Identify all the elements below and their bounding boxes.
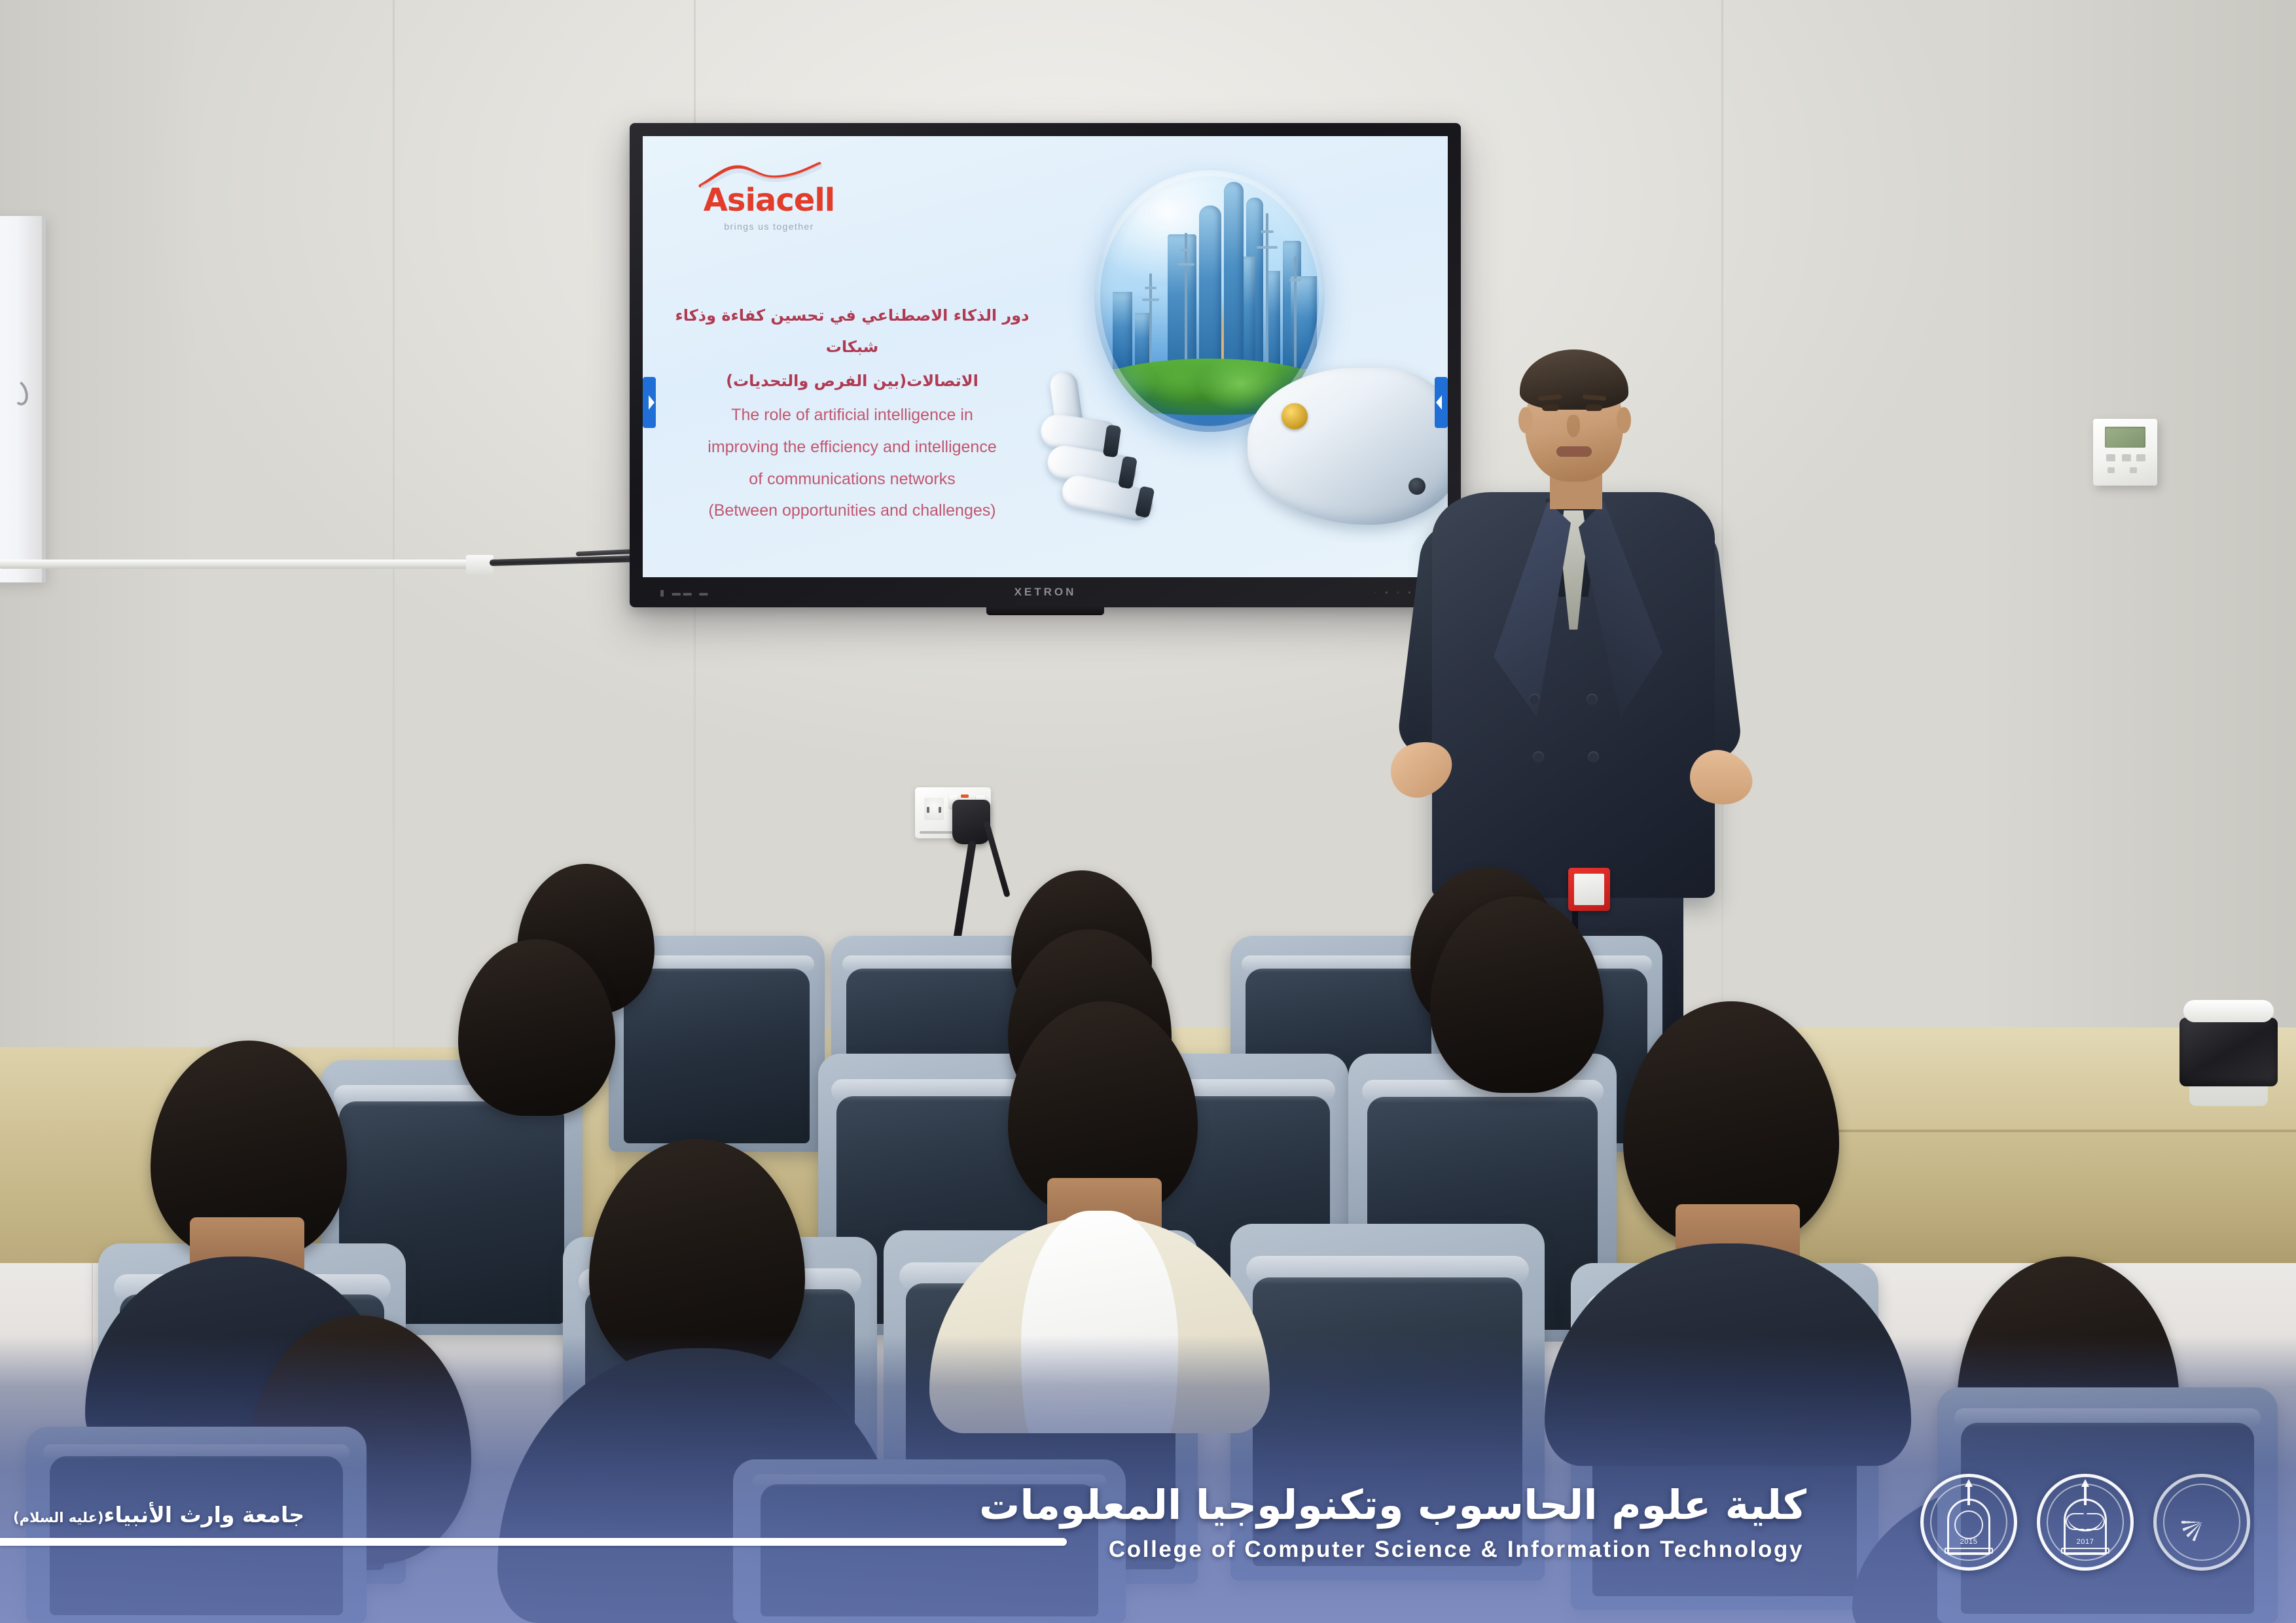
ministry-of-higher-education-logo[interactable]	[2153, 1474, 2250, 1571]
seal-year: 2017	[2077, 1538, 2094, 1546]
university-name-honorific: (عليه السلام)	[13, 1510, 104, 1525]
banner-logo-row: 2015 2017	[1920, 1474, 2250, 1571]
college-name-block: كلية علوم الحاسوب وتكنولوجيا المعلومات C…	[1106, 1481, 1806, 1563]
university-seal-logo[interactable]: 2017	[2037, 1474, 2134, 1571]
university-name-arabic: جامعة وارث الأنبياء(عليه السلام)	[13, 1502, 304, 1527]
ministry-rays-icon	[2181, 1502, 2222, 1543]
seal-open-book-icon	[2067, 1514, 2104, 1531]
seal-base-icon	[1945, 1548, 1993, 1554]
university-college-seal-logo[interactable]: 2015	[1920, 1474, 2017, 1571]
college-name-arabic: كلية علوم الحاسوب وتكنولوجيا المعلومات	[1106, 1481, 1806, 1529]
seal-base-icon	[2061, 1548, 2109, 1554]
banner-divider-rule	[0, 1538, 1067, 1546]
seal-year: 2015	[1960, 1538, 1978, 1546]
seal-crest-icon: 2017	[2057, 1488, 2113, 1556]
brand-banner: جامعة وارث الأنبياء(عليه السلام) كلية عل…	[0, 0, 2296, 1623]
seal-crest-icon: 2015	[1941, 1488, 1997, 1556]
seal-ring-icon	[1954, 1510, 1983, 1539]
college-name-english: College of Computer Science & Informatio…	[1106, 1537, 1806, 1563]
lecture-hall-photo: Asiacell brings us together دور الذكاء ا…	[0, 0, 2296, 1623]
university-name-main: جامعة وارث الأنبياء	[104, 1502, 305, 1527]
